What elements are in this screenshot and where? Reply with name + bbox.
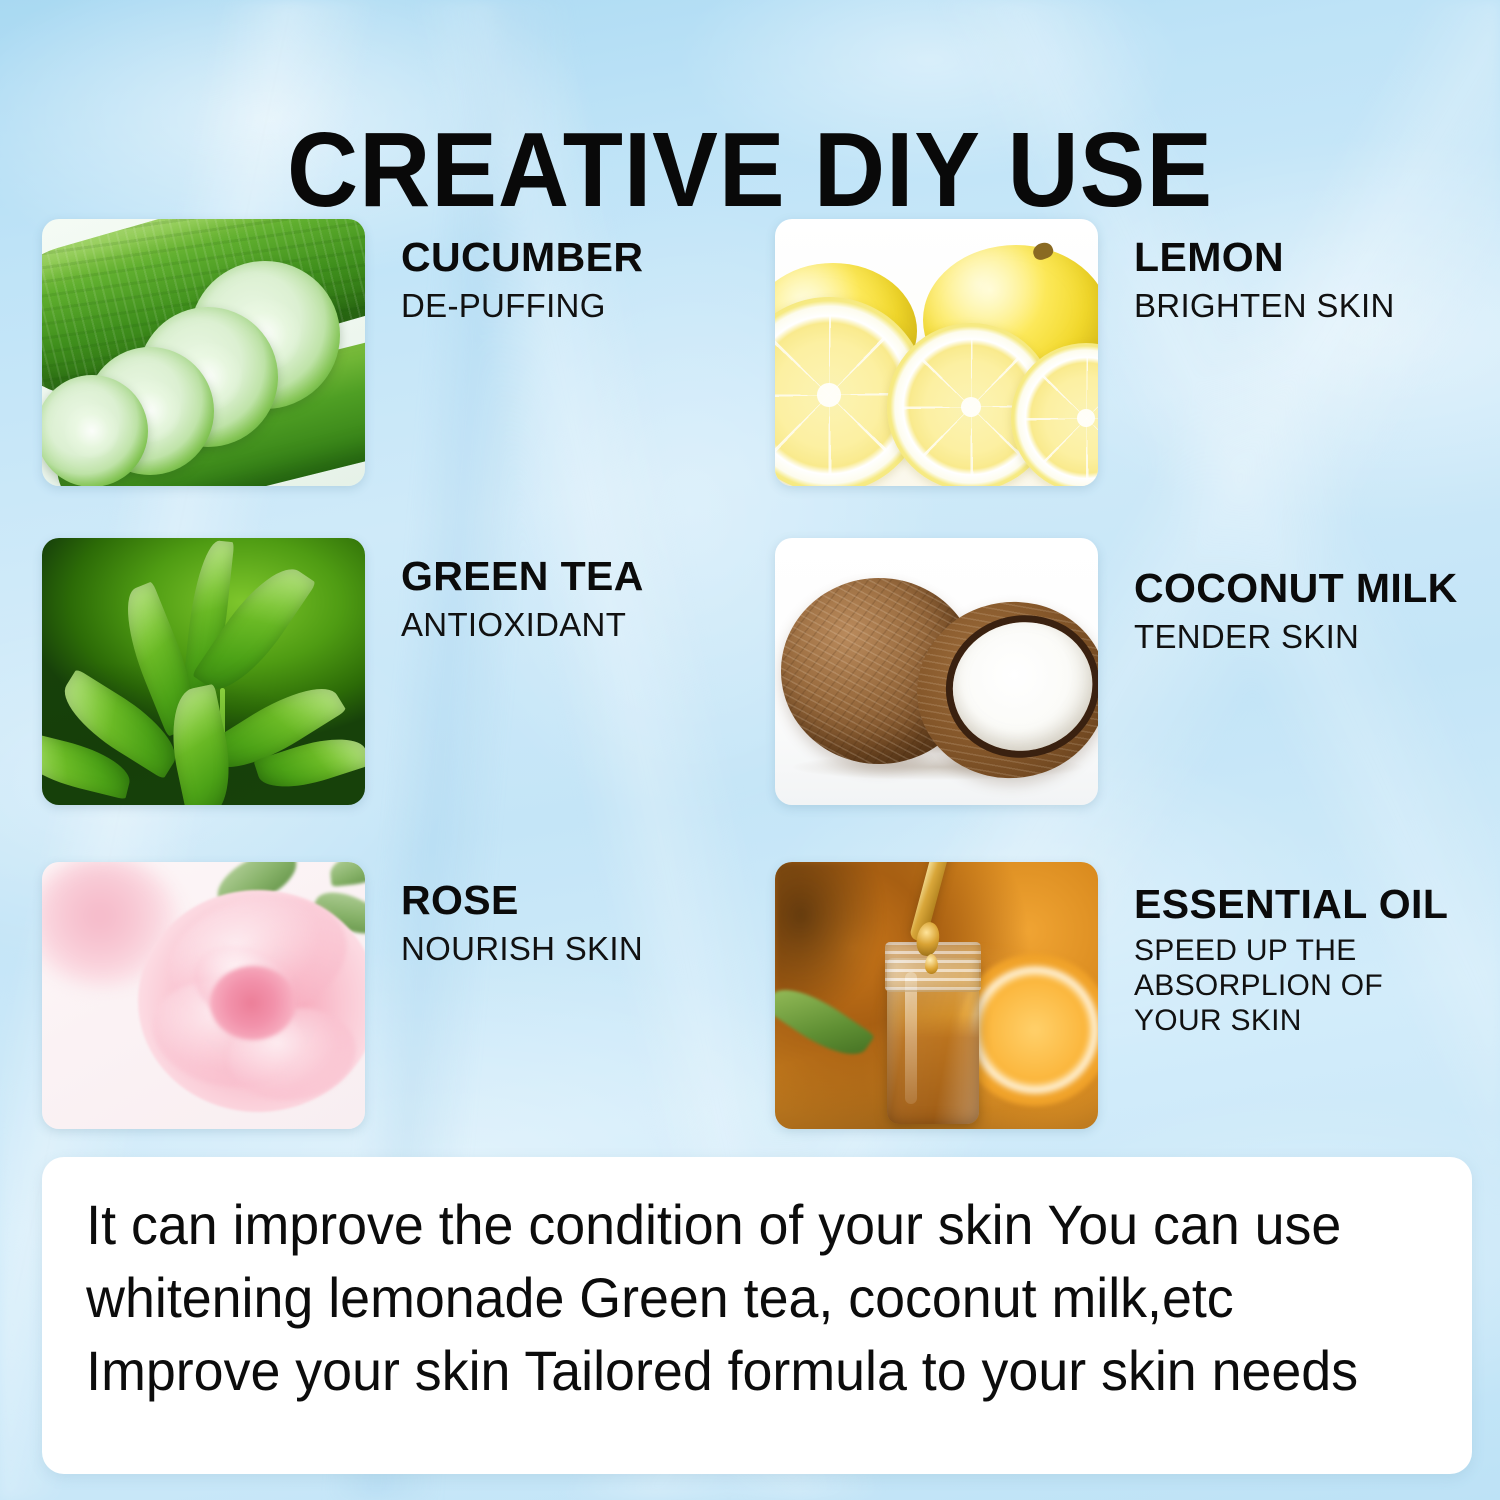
ingredient-benefit: NOURISH SKIN <box>401 930 643 969</box>
cucumber-photo <box>42 219 365 486</box>
ingredient-name: CUCUMBER <box>401 235 643 281</box>
coconut-photo <box>775 538 1098 805</box>
lemon-text-block: LEMON BRIGHTEN SKIN <box>1098 219 1395 326</box>
oil-droplet <box>925 954 938 974</box>
essential-oil-photo <box>775 862 1098 1129</box>
coconut-flesh <box>941 609 1098 763</box>
description-panel: It can improve the condition of your ski… <box>42 1157 1472 1474</box>
ingredient-benefit: TENDER SKIN <box>1134 618 1458 657</box>
ingredient-name: LEMON <box>1134 235 1395 281</box>
cucumber-slice <box>42 375 148 486</box>
rose-leaf <box>329 862 365 887</box>
green-tea-photo <box>42 538 365 805</box>
orange-leaf <box>775 975 875 1069</box>
ingredient-name: ESSENTIAL OIL <box>1134 882 1448 928</box>
ingredient-card-rose: ROSE NOURISH SKIN <box>42 862 643 1129</box>
ingredient-benefit: BRIGHTEN SKIN <box>1134 287 1395 326</box>
lemon-photo <box>775 219 1098 486</box>
ingredient-name: COCONUT MILK <box>1134 566 1458 612</box>
rose-center <box>210 966 296 1040</box>
ingredient-name: ROSE <box>401 878 643 924</box>
green-tea-text-block: GREEN TEA ANTIOXIDANT <box>365 538 644 645</box>
coconut-half <box>906 590 1098 791</box>
ingredient-card-green-tea: GREEN TEA ANTIOXIDANT <box>42 538 644 805</box>
essential-oil-text-block: ESSENTIAL OIL SPEED UP THE ABSORPLION OF… <box>1098 862 1448 1038</box>
ingredient-card-coconut-milk: COCONUT MILK TENDER SKIN <box>775 538 1458 805</box>
coconut-text-block: COCONUT MILK TENDER SKIN <box>1098 538 1458 657</box>
ingredient-card-cucumber: CUCUMBER DE-PUFFING <box>42 219 643 486</box>
ingredient-benefit: DE-PUFFING <box>401 287 643 326</box>
ingredient-name: GREEN TEA <box>401 554 644 600</box>
ingredient-benefit: ANTIOXIDANT <box>401 606 644 645</box>
ingredient-benefit: SPEED UP THE ABSORPLION OF YOUR SKIN <box>1134 934 1448 1038</box>
product-infographic-poster: CREATIVE DIY USE CUCUMBER DE-PUFFING <box>0 0 1500 1500</box>
page-title: CREATIVE DIY USE <box>53 117 1448 223</box>
ingredient-card-essential-oil: ESSENTIAL OIL SPEED UP THE ABSORPLION OF… <box>775 862 1448 1129</box>
ingredient-card-lemon: LEMON BRIGHTEN SKIN <box>775 219 1395 486</box>
rose-text-block: ROSE NOURISH SKIN <box>365 862 643 969</box>
cucumber-text-block: CUCUMBER DE-PUFFING <box>365 219 643 326</box>
rose-photo <box>42 862 365 1129</box>
description-text: It can improve the condition of your ski… <box>42 1157 1415 1407</box>
